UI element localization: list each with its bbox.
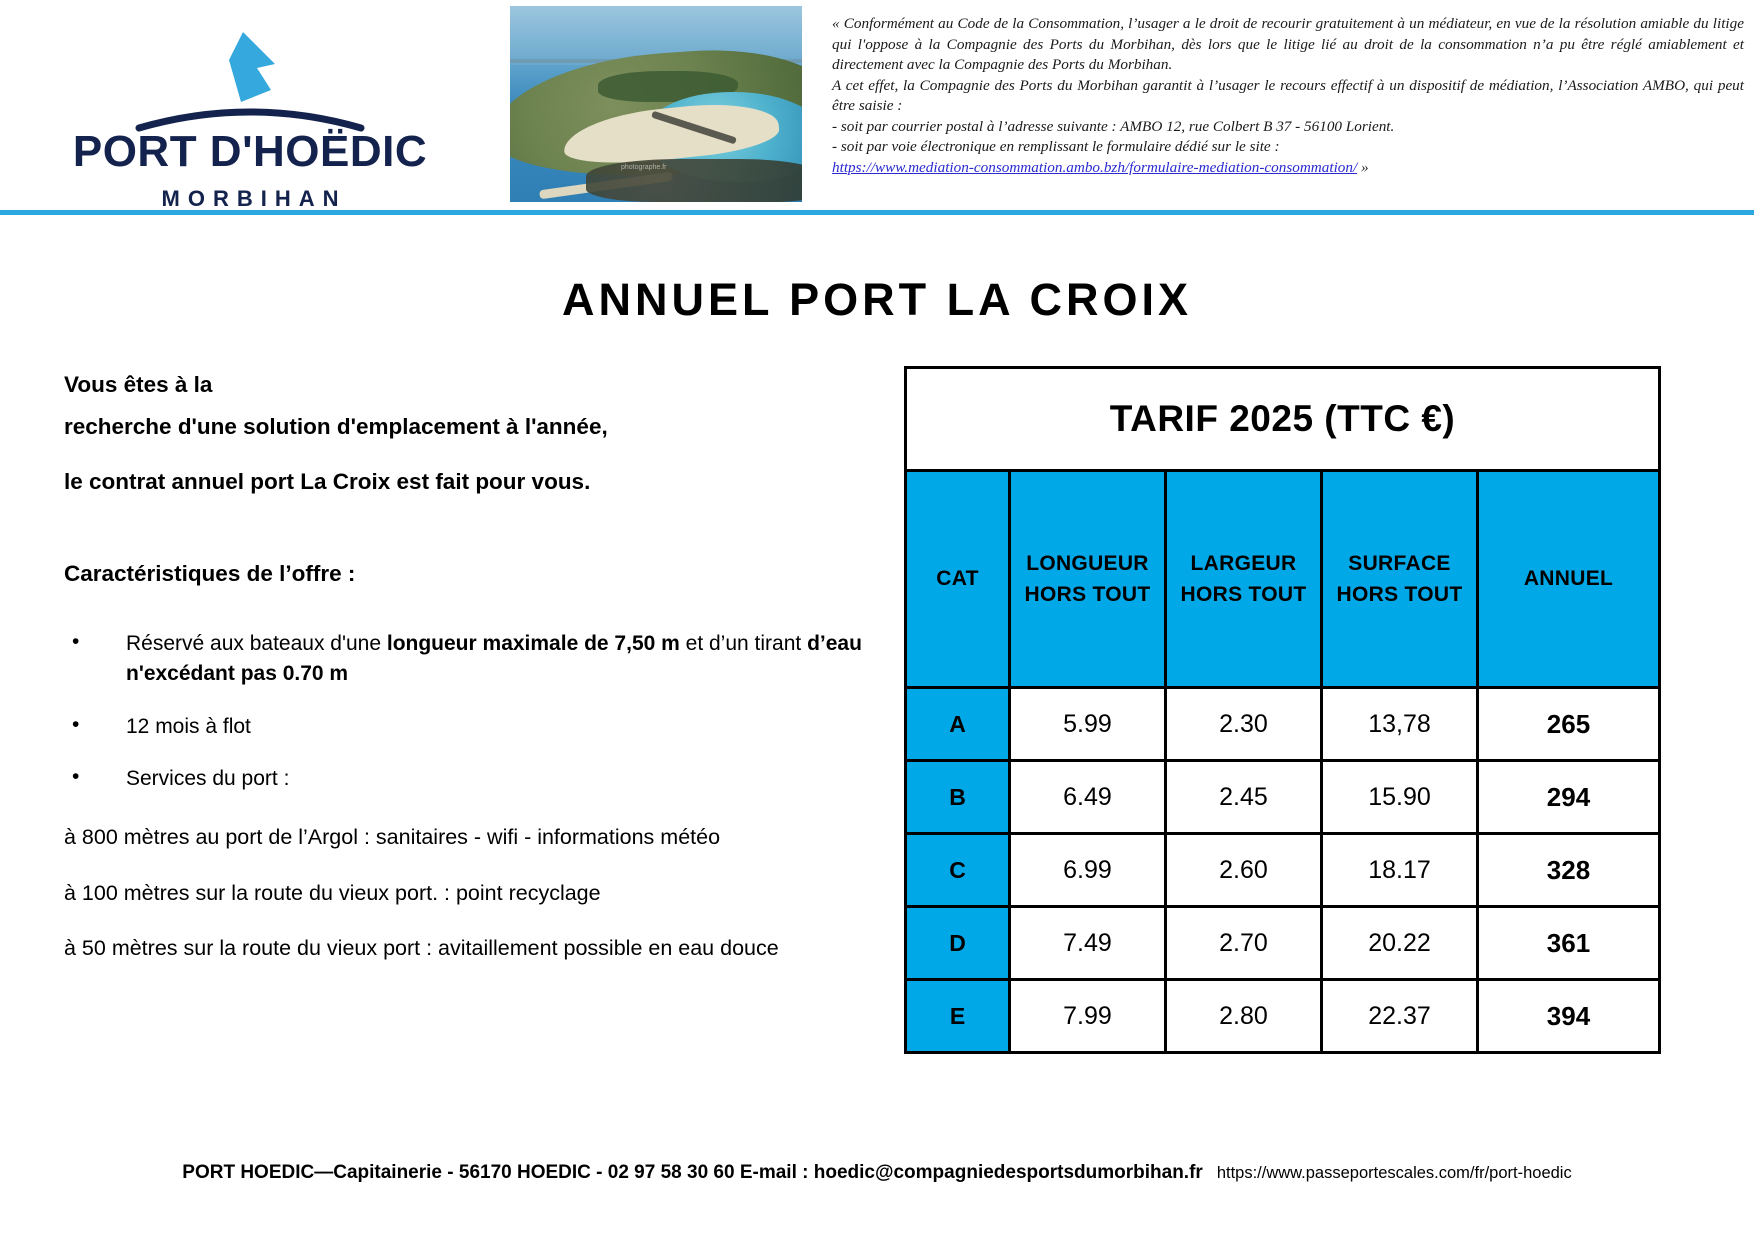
header-surface-line1: SURFACE xyxy=(1348,552,1450,575)
cell-largeur: 2.60 xyxy=(1166,834,1322,907)
cell-longueur: 7.49 xyxy=(1010,907,1166,980)
cell-surface: 15.90 xyxy=(1322,761,1478,834)
main-content: Vous êtes à la recherche d'une solution … xyxy=(0,364,1754,1054)
header-surface-line2: HORS TOUT xyxy=(1337,583,1463,606)
cell-annuel: 328 xyxy=(1478,834,1660,907)
service-line-3: à 50 mètres sur la route du vieux port :… xyxy=(64,928,884,970)
page-header: PORT D'HOËDIC MORBIHAN photographe.fr « … xyxy=(0,0,1754,212)
cell-longueur: 6.49 xyxy=(1010,761,1166,834)
legal-paragraph-1: « Conformément au Code de la Consommatio… xyxy=(832,14,1744,76)
table-row: D 7.49 2.70 20.22 361 xyxy=(906,907,1660,980)
legal-paragraph-2: A cet effet, la Compagnie des Ports du M… xyxy=(832,76,1744,117)
list-item: Services du port : xyxy=(64,764,884,794)
legal-paragraph-3: - soit par courrier postal à l’adresse s… xyxy=(832,117,1744,138)
service-line-1: à 800 mètres au port de l’Argol : sanita… xyxy=(64,817,884,859)
services-details: à 800 mètres au port de l’Argol : sanita… xyxy=(64,817,884,971)
cell-cat: D xyxy=(906,907,1010,980)
tarif-table: TARIF 2025 (TTC €) CAT LONGUEUR HORS TOU… xyxy=(904,366,1661,1054)
column-header-surface: SURFACE HORS TOUT xyxy=(1322,471,1478,688)
cell-longueur: 5.99 xyxy=(1010,688,1166,761)
cell-largeur: 2.45 xyxy=(1166,761,1322,834)
legal-mediation-notice: « Conformément au Code de la Consommatio… xyxy=(810,0,1754,178)
cell-annuel: 294 xyxy=(1478,761,1660,834)
header-cat-line1: CAT xyxy=(936,567,979,590)
table-row: A 5.99 2.30 13,78 265 xyxy=(906,688,1660,761)
intro-line-1: Vous êtes à la xyxy=(64,372,212,397)
column-header-largeur: LARGEUR HORS TOUT xyxy=(1166,471,1322,688)
header-longueur-line1: LONGUEUR xyxy=(1026,552,1149,575)
column-header-annuel: ANNUEL xyxy=(1478,471,1660,688)
table-header-row: CAT LONGUEUR HORS TOUT LARGEUR HORS TOUT… xyxy=(906,471,1660,688)
cell-largeur: 2.70 xyxy=(1166,907,1322,980)
logo-subtitle: MORBIHAN xyxy=(154,186,347,212)
cell-longueur: 6.99 xyxy=(1010,834,1166,907)
header-largeur-line2: HORS TOUT xyxy=(1181,583,1307,606)
legal-link-line: https://www.mediation-consommation.ambo.… xyxy=(832,158,1744,179)
header-annuel-line1: ANNUEL xyxy=(1524,567,1613,590)
bullet-1-part2: et d’un tirant xyxy=(680,632,807,655)
footer-contact: PORT HOEDIC—Capitainerie - 56170 HOEDIC … xyxy=(182,1162,1203,1183)
offer-description-column: Vous êtes à la recherche d'une solution … xyxy=(24,364,884,984)
cell-annuel: 394 xyxy=(1478,980,1660,1053)
features-heading: Caractéristiques de l’offre : xyxy=(64,561,884,587)
intro-text: Vous êtes à la recherche d'une solution … xyxy=(64,364,884,503)
cell-cat: C xyxy=(906,834,1010,907)
tarif-table-column: TARIF 2025 (TTC €) CAT LONGUEUR HORS TOU… xyxy=(904,364,1661,1054)
cell-cat: A xyxy=(906,688,1010,761)
cell-annuel: 361 xyxy=(1478,907,1660,980)
table-title: TARIF 2025 (TTC €) xyxy=(906,368,1660,471)
header-photo-block: photographe.fr xyxy=(510,6,810,202)
intro-line-3: le contrat annuel port La Croix est fait… xyxy=(64,461,884,503)
header-divider xyxy=(0,210,1754,215)
cell-largeur: 2.30 xyxy=(1166,688,1322,761)
mediation-form-link[interactable]: https://www.mediation-consommation.ambo.… xyxy=(832,159,1357,176)
aerial-photo-port: photographe.fr xyxy=(510,6,802,202)
header-longueur-line2: HORS TOUT xyxy=(1025,583,1151,606)
list-item: Réservé aux bateaux d'une longueur maxim… xyxy=(64,629,884,690)
intro-line-2: recherche d'une solution d'emplacement à… xyxy=(64,414,608,439)
cell-cat: E xyxy=(906,980,1010,1053)
brand-logo: PORT D'HOËDIC MORBIHAN xyxy=(0,0,500,212)
page-title: ANNUEL PORT LA CROIX xyxy=(0,274,1754,326)
cell-cat: B xyxy=(906,761,1010,834)
table-row: B 6.49 2.45 15.90 294 xyxy=(906,761,1660,834)
service-line-2: à 100 mètres sur la route du vieux port.… xyxy=(64,873,884,915)
footer-url[interactable]: https://www.passeportescales.com/fr/port… xyxy=(1217,1164,1572,1182)
cell-largeur: 2.80 xyxy=(1166,980,1322,1053)
arc-icon xyxy=(125,102,375,132)
bullet-1-bold1: longueur maximale de 7,50 m xyxy=(387,632,680,655)
features-list: Réservé aux bateaux d'une longueur maxim… xyxy=(64,629,884,795)
photo-watermark: photographe.fr xyxy=(621,164,667,171)
legal-closing-quote: » xyxy=(1361,159,1369,176)
table-title-row: TARIF 2025 (TTC €) xyxy=(906,368,1660,471)
table-row: E 7.99 2.80 22.37 394 xyxy=(906,980,1660,1053)
column-header-longueur: LONGUEUR HORS TOUT xyxy=(1010,471,1166,688)
list-item: 12 mois à flot xyxy=(64,712,884,742)
cell-surface: 18.17 xyxy=(1322,834,1478,907)
cell-surface: 20.22 xyxy=(1322,907,1478,980)
table-row: C 6.99 2.60 18.17 328 xyxy=(906,834,1660,907)
cell-surface: 13,78 xyxy=(1322,688,1478,761)
legal-paragraph-4: - soit par voie électronique en rempliss… xyxy=(832,137,1744,158)
logo-wordmark: PORT D'HOËDIC xyxy=(73,130,427,174)
column-header-cat: CAT xyxy=(906,471,1010,688)
cell-annuel: 265 xyxy=(1478,688,1660,761)
logo-mark xyxy=(125,24,375,134)
bullet-1-part1: Réservé aux bateaux d'une xyxy=(126,632,387,655)
cell-surface: 22.37 xyxy=(1322,980,1478,1053)
header-largeur-line1: LARGEUR xyxy=(1191,552,1297,575)
page-footer: PORT HOEDIC—Capitainerie - 56170 HOEDIC … xyxy=(0,1162,1754,1184)
cell-longueur: 7.99 xyxy=(1010,980,1166,1053)
